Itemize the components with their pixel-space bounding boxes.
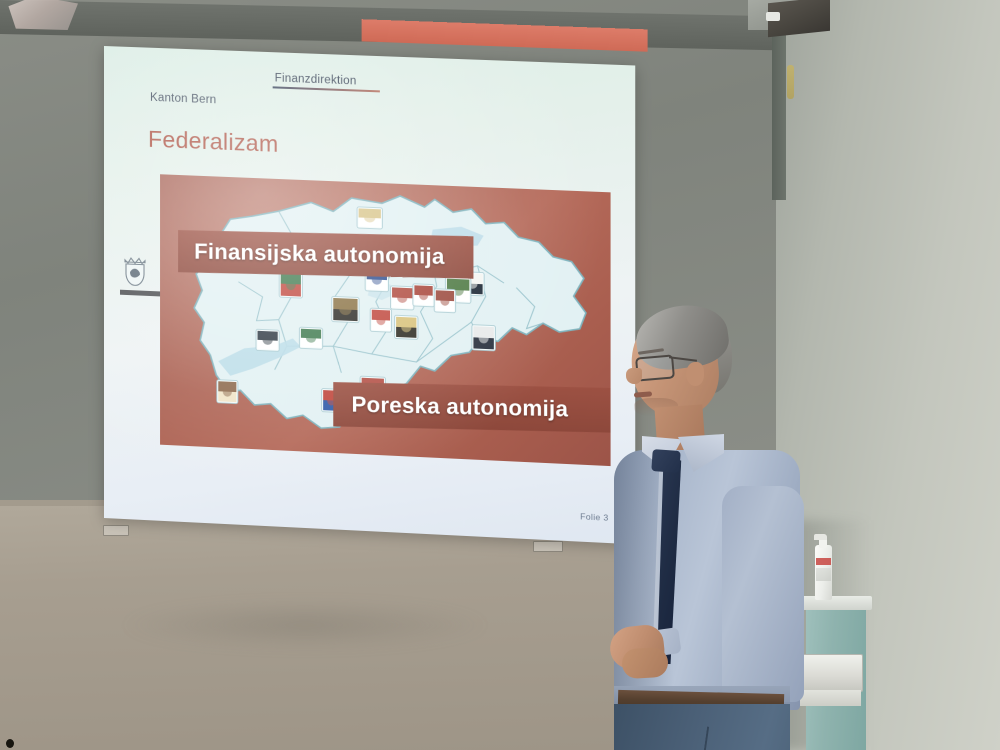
presenter-hand-lower: [621, 647, 669, 679]
ceiling-light-icon: [4, 0, 78, 30]
canton-shield-obwalden: [370, 308, 391, 332]
map-graphic-block: Finansijska autonomija Poreska autonomij…: [160, 174, 611, 466]
wall-marking: [787, 65, 794, 99]
whiteboard-magnet-icon: [6, 739, 14, 748]
presenter-trousers: [614, 704, 790, 750]
whiteboard-bracket-right: [533, 541, 563, 552]
banner-financial-autonomy: Finansijska autonomija: [178, 230, 473, 279]
presenter-ear: [686, 362, 704, 386]
presenter-tie-knot: [651, 449, 680, 473]
canton-shield-uri: [395, 315, 418, 339]
slide-title: Federalizam: [148, 126, 279, 158]
canton-shield-luzern: [391, 286, 414, 310]
canton-shield-bern: [332, 296, 359, 322]
lecture-room-photo: Finanzdirektion Kanton Bern Federalizam: [0, 0, 1000, 750]
projection-screen: Finanzdirektion Kanton Bern Federalizam: [104, 46, 635, 544]
banner-tax-autonomy: Poreska autonomija: [333, 382, 610, 433]
canton-shield-glarus: [434, 289, 455, 313]
banner-tax-autonomy-label: Poreska autonomija: [351, 392, 568, 423]
canton-shield-jura: [357, 207, 382, 229]
presenter-nose: [626, 368, 642, 384]
whiteboard-bracket-left: [103, 525, 129, 536]
canton-shield-vaud: [256, 329, 279, 351]
canton-shield-graubuenden: [472, 325, 495, 351]
banner-financial-autonomy-label: Finansijska autonomija: [194, 238, 444, 269]
canton-shield-geneve: [217, 380, 238, 404]
whiteboard-smudge: [120, 600, 490, 650]
canton-shield-schwyz: [413, 284, 434, 307]
speaker-led-icon: [766, 12, 780, 21]
presenter: [590, 300, 830, 750]
canton-shield-fribourg: [299, 327, 322, 349]
presenter-right-arm: [722, 486, 804, 702]
slide-organization-label: Kanton Bern: [150, 92, 216, 107]
bern-coat-of-arms-icon: [122, 252, 148, 287]
